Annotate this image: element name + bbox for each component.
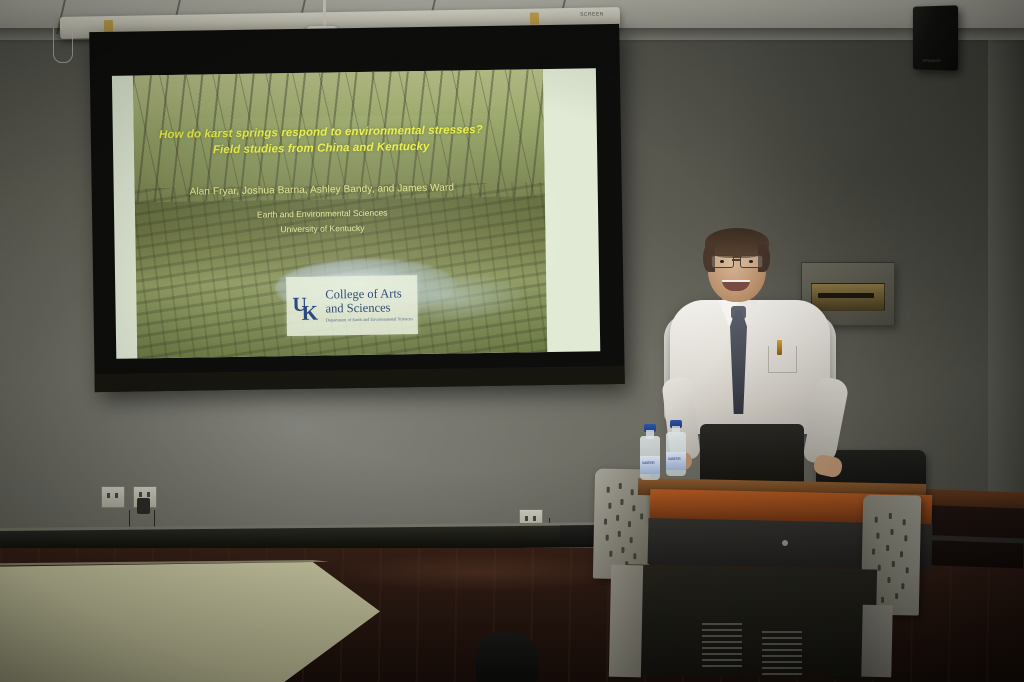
presenter xyxy=(660,228,850,488)
bottle-label-text: WATER xyxy=(668,456,681,461)
bottle-label: WATER xyxy=(640,456,660,474)
slide-authors: Alan Fryar, Joshua Barna, Ashley Bandy, … xyxy=(114,181,530,199)
roller-cap-right xyxy=(530,13,539,25)
lectern-vent-left xyxy=(702,623,742,667)
lectern-leg-left xyxy=(609,565,643,678)
roller-cap-left xyxy=(104,20,113,32)
uk-monogram-icon: U K xyxy=(292,291,320,321)
floor-sheen xyxy=(330,552,630,592)
presenter-shirt-pocket xyxy=(768,346,797,373)
projected-slide: How do karst springs respond to environm… xyxy=(112,68,600,359)
uk-logo-department: Department of Earth and Environmental Sc… xyxy=(326,316,413,323)
lecture-room-photo: SCREEN How do karst springs respond to e… xyxy=(0,0,1024,682)
lectern-leg-right xyxy=(861,605,893,678)
glasses-bridge xyxy=(732,259,740,261)
glasses-lens-left xyxy=(711,255,734,268)
lectern-lock-knob[interactable] xyxy=(782,540,788,546)
screen-pull-hook[interactable] xyxy=(53,28,73,63)
glasses-icon xyxy=(709,255,765,266)
glasses-lens-right xyxy=(740,255,763,268)
roller-brand-label: SCREEN xyxy=(580,11,604,17)
presenter-eye-left xyxy=(720,260,724,263)
water-bottle[interactable]: WATER xyxy=(640,424,660,480)
bottle-label-text: WATER xyxy=(642,460,655,465)
pen-icon xyxy=(777,340,782,355)
uk-logo-line-2: and Sciences xyxy=(325,301,412,316)
wall-outlet-left-a[interactable] xyxy=(101,486,125,508)
speaker-brand-label: SPEAKER xyxy=(922,58,940,63)
slide-affiliation: Earth and Environmental Sciences Univers… xyxy=(114,203,531,240)
presenter-eye-right xyxy=(749,260,753,263)
lectern-body xyxy=(625,564,877,679)
bottle-label: WATER xyxy=(666,452,686,470)
water-bottle[interactable]: WATER xyxy=(666,420,686,476)
uk-logo-wordmark: College of Arts and Sciences Department … xyxy=(325,287,413,323)
lectern xyxy=(586,455,1006,682)
projection-screen: How do karst springs respond to environm… xyxy=(89,24,625,392)
lectern-vent-right xyxy=(762,631,802,675)
uk-letter-k: K xyxy=(301,300,318,325)
uk-college-logo: U K College of Arts and Sciences Departm… xyxy=(286,275,418,336)
slide-title: How do karst springs respond to environm… xyxy=(113,121,530,160)
wall-speaker-icon: SPEAKER xyxy=(913,5,958,70)
foreground-chair xyxy=(476,632,538,682)
